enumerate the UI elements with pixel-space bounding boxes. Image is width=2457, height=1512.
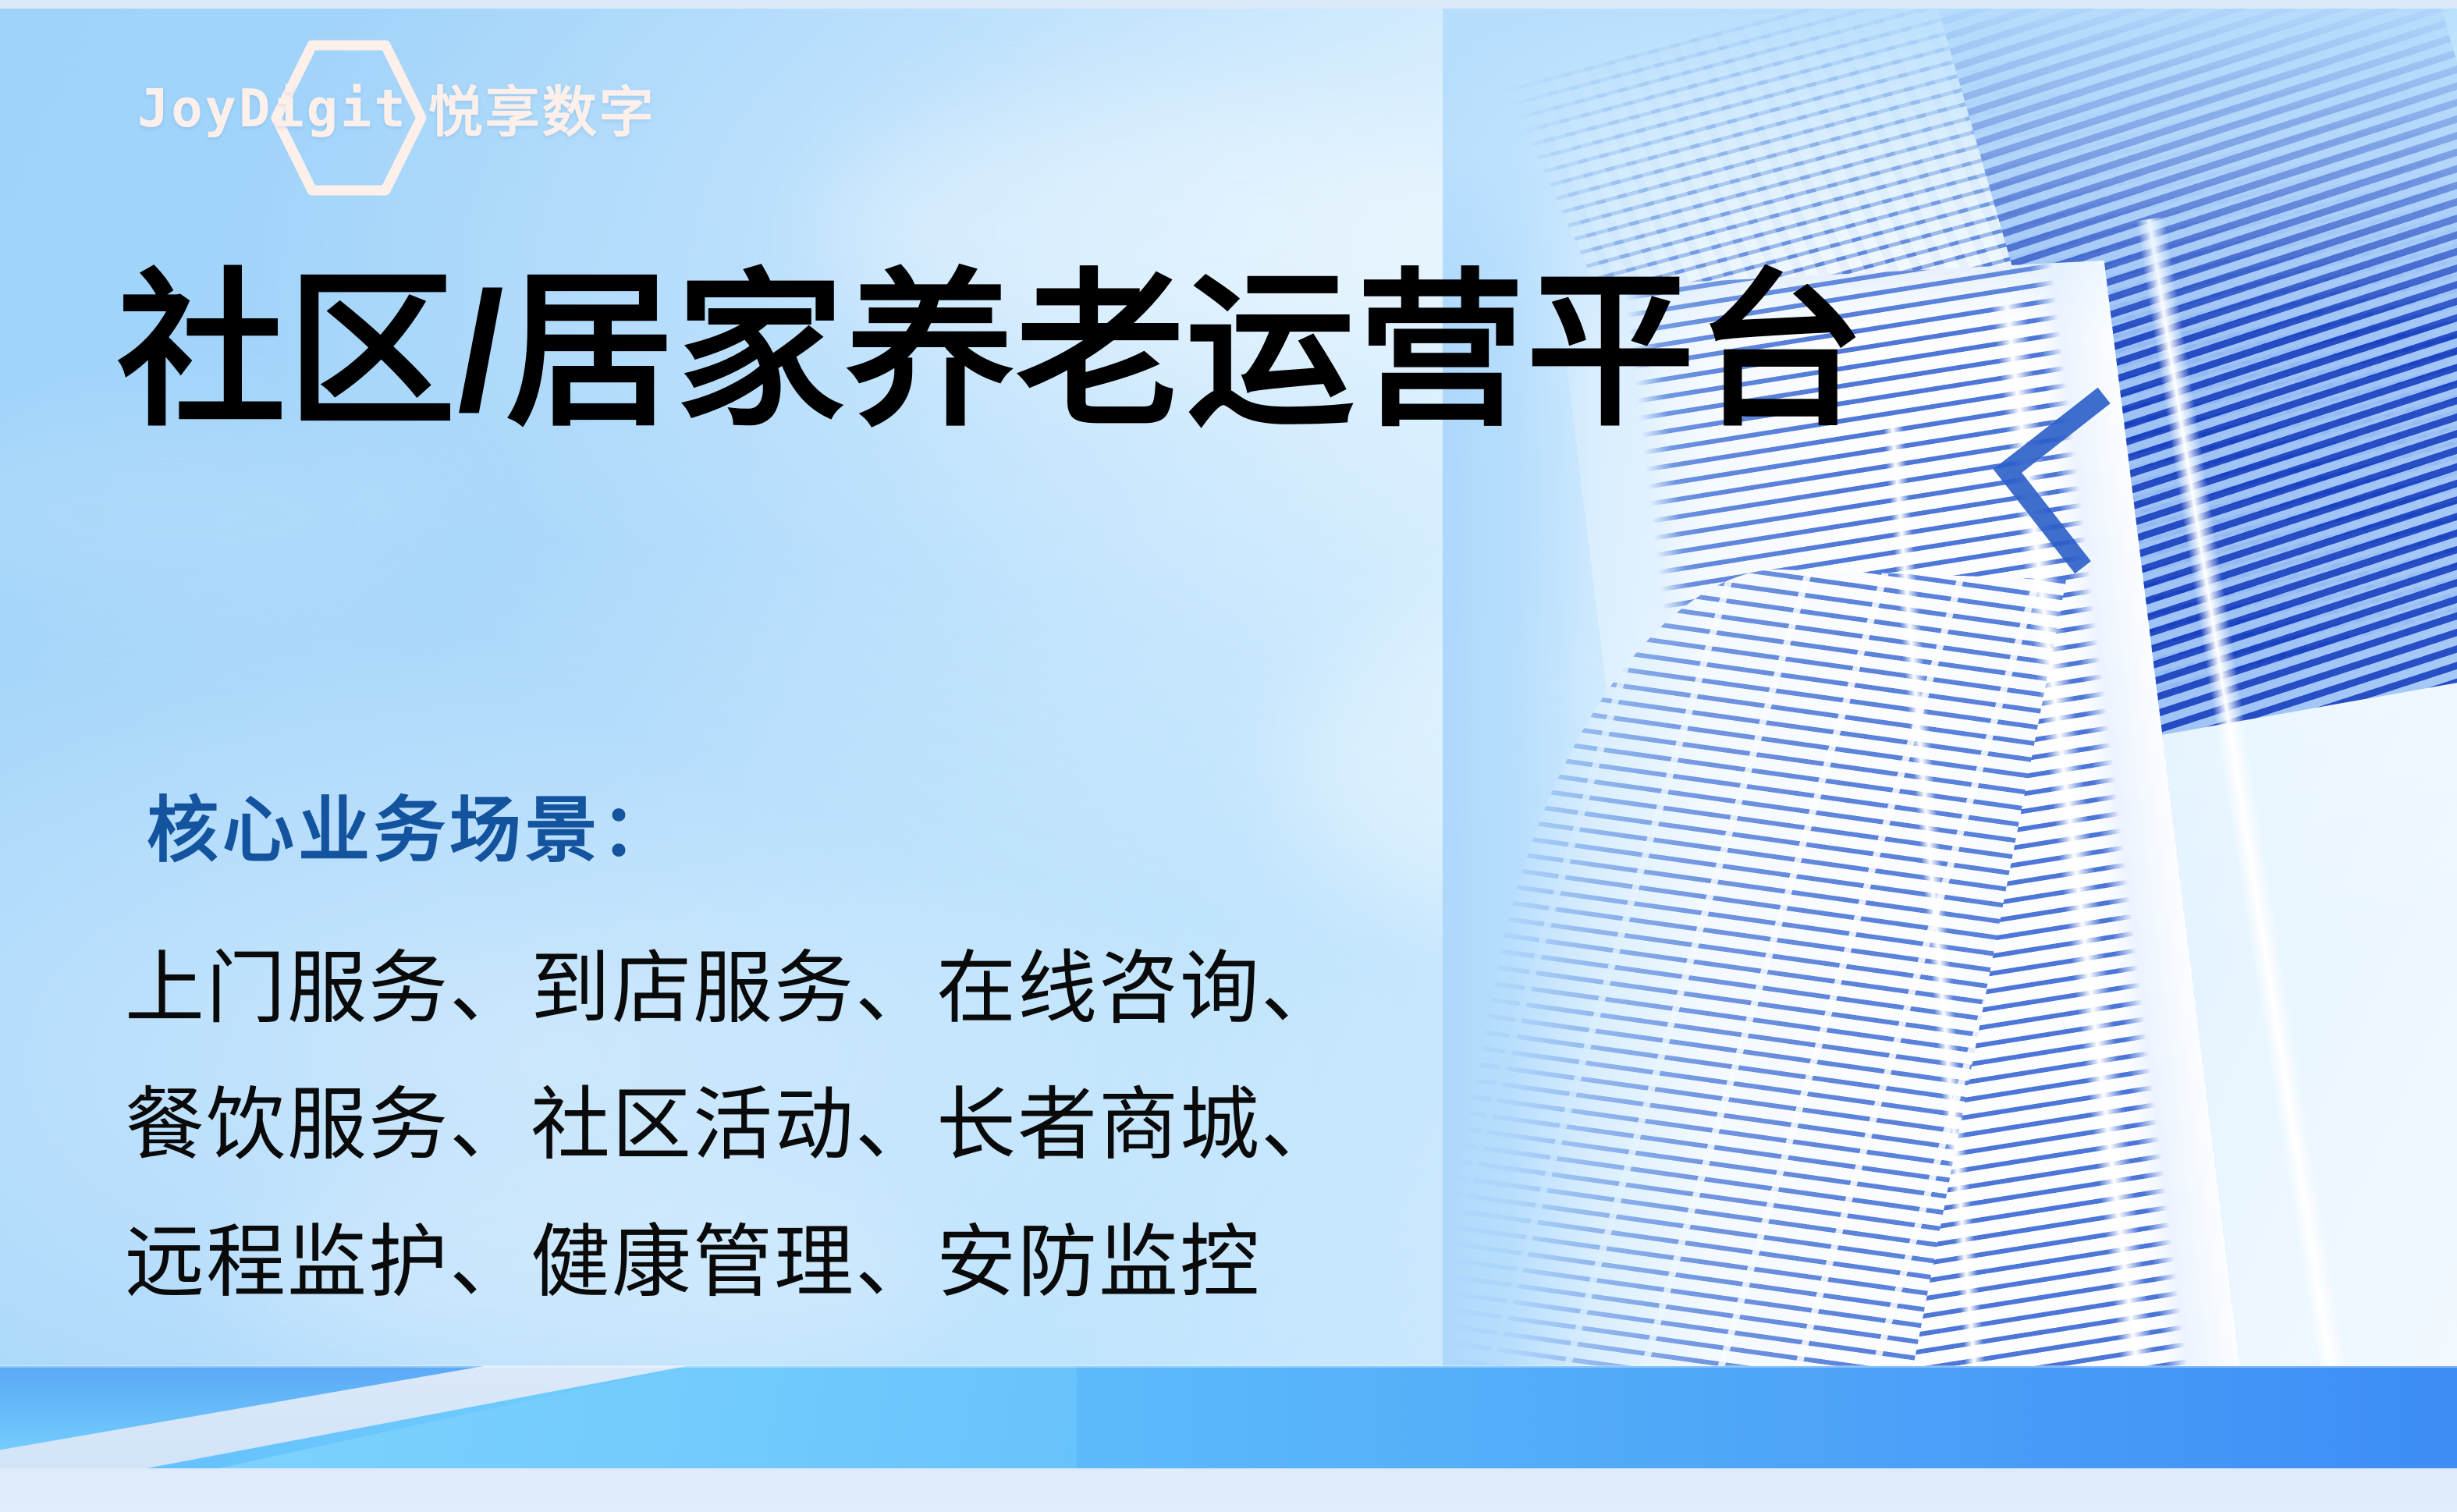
page-title: 社区/居家养老运营平台 — [117, 261, 1866, 442]
skyscraper-photo — [1443, 9, 2457, 1413]
scenario-line: 上门服务、到店服务、在线咨询、 — [125, 921, 1342, 1057]
scenario-list: 上门服务、到店服务、在线咨询、 餐饮服务、社区活动、长者商城、 远程监护、健康管… — [125, 921, 1342, 1331]
section-heading: 核心业务场景： — [147, 772, 676, 876]
scenario-line: 远程监护、健康管理、安防监控 — [125, 1194, 1342, 1331]
top-frame-strip — [0, 0, 2457, 9]
logo-wordmark-cn: 悦享数字 — [428, 69, 656, 147]
scenario-line: 餐饮服务、社区活动、长者商城、 — [125, 1057, 1342, 1194]
slide-canvas: JoyDigit 悦享数字 社区/居家养老运营平台 核心业务场景： 上门服务、到… — [0, 0, 2457, 1512]
footer-band-highlight — [0, 1365, 2457, 1368]
logo-mark: JoyDigit — [137, 78, 408, 139]
logo-wordmark-en: JoyDigit — [137, 78, 408, 139]
bottom-frame-strip — [0, 1468, 2457, 1512]
brand-logo[interactable]: JoyDigit 悦享数字 — [137, 69, 656, 147]
